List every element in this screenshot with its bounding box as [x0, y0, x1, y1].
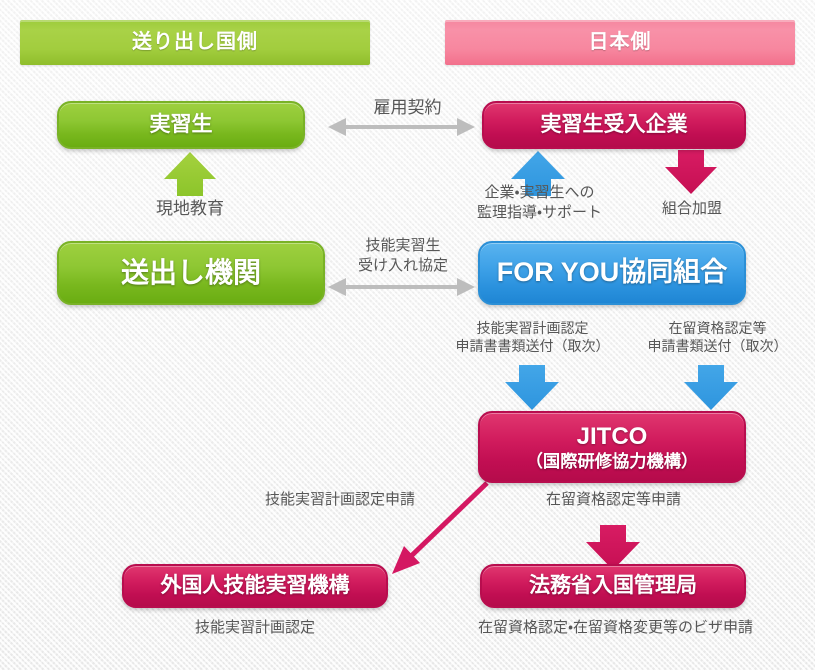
label-union-membership: 組合加盟	[633, 199, 751, 219]
box-sending-org[interactable]: 送出し機関	[57, 241, 325, 305]
diagram-content: 送り出し国側 日本側 実習生 実習生受入企業 雇用契約 現地教育 企業・実習生へ…	[0, 0, 815, 670]
box-jitco-title: JITCO	[577, 423, 648, 451]
label-plan-application: 技能実習計画認定申請	[230, 490, 450, 510]
box-trainee[interactable]: 実習生	[57, 101, 305, 149]
banner-sending-country: 送り出し国側	[20, 20, 370, 65]
label-visa-application: 在留資格認定・在留資格変更等のビザ申請	[428, 618, 803, 638]
label-local-education: 現地教育	[110, 198, 270, 220]
label-plan-certification: 技能実習計画認定	[165, 618, 345, 638]
label-plan-docs-submit: 技能実習計画認定 申請書書類送付（取次）	[425, 319, 640, 356]
label-supervision-support: 企業・実習生への 監理指導・サポート	[452, 183, 627, 223]
label-status-application: 在留資格認定等申請	[516, 490, 711, 510]
box-jitco[interactable]: JITCO （国際研修協力機構）	[478, 411, 746, 483]
box-jitco-subtitle: （国際研修協力機構）	[526, 451, 699, 471]
label-status-docs-submit: 在留資格認定等 申請書類送付（取次）	[620, 319, 815, 356]
label-employment-contract: 雇用契約	[330, 97, 485, 119]
box-host-company[interactable]: 実習生受入企業	[482, 101, 746, 149]
box-oth-org[interactable]: 外国人技能実習機構	[122, 564, 388, 608]
box-for-you[interactable]: FOR YOU協同組合	[478, 241, 746, 305]
banner-japan: 日本側	[445, 20, 795, 65]
box-immigration[interactable]: 法務省入国管理局	[480, 564, 746, 608]
label-trainee-agreement: 技能実習生 受け入れ協定	[336, 236, 470, 276]
